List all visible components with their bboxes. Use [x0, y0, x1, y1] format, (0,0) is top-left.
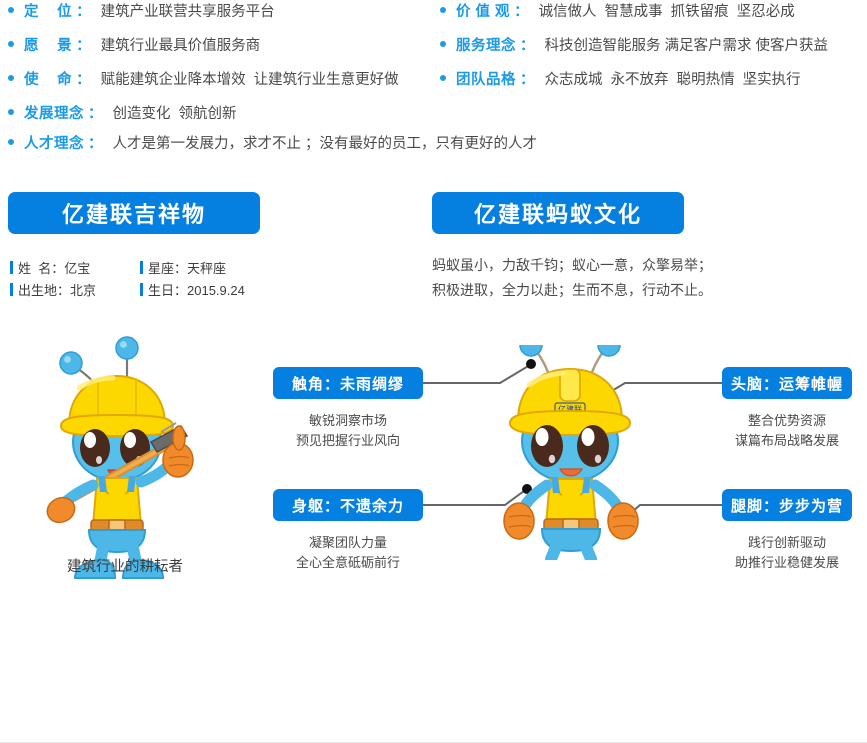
philosophy-value: 诚信做人 智慧成事 抓铁留痕 坚忍必成 [539, 0, 795, 21]
mascot-meta-row: 姓 名：亿宝 星座：天秤座 [10, 256, 310, 278]
section-banner-mascot: 亿建联吉祥物 [8, 192, 260, 234]
philosophy-value: 人才是第一发展力，求才不止 ；没有最好的员工，只有更好的人才 [113, 132, 538, 153]
bullet-icon [440, 41, 446, 47]
mascot-meta-cell: 姓 名：亿宝 [10, 258, 140, 277]
philosophy-label: 定 位 [24, 0, 72, 21]
mascot-meta-cell: 星座：天秤座 [140, 258, 270, 277]
philosophy-row-talent: 人才理念 ： 人才是第一发展力，求才不止 ；没有最好的员工，只有更好的人才 [8, 132, 867, 172]
philosophy-label: 团队品格 [456, 68, 516, 89]
callout-sub-line: 助推行业稳健发展 [712, 553, 862, 573]
callout-sub-line: 整合优势资源 [712, 411, 862, 431]
callout-pill-brain[interactable]: 头脑：运筹帷幄 [722, 367, 852, 399]
philosophy-row: 团队品格 ： 众志成城 永不放弃 聪明热情 坚实执行 [440, 68, 867, 102]
philosophy-value: 建筑行业最具价值服务商 [101, 34, 261, 55]
philosophy-label: 价 值 观 [456, 0, 510, 21]
philosophy-value: 创造变化 领航创新 [113, 102, 237, 123]
callout-pill-antenna-label: 触角：未雨绸缪 [292, 373, 404, 394]
philosophy-label: 愿 景 [24, 34, 72, 55]
philosophy-label: 发展理念 [24, 102, 84, 123]
philosophy-label: 人才理念 [24, 132, 84, 153]
bar-marker-icon [140, 283, 143, 296]
mascot-name: 姓 名：亿宝 [18, 258, 90, 277]
philosophy-section: 定 位 ： 建筑产业联营共享服务平台 愿 景 ： 建筑行业最具价值服务商 使 命… [0, 0, 867, 172]
callout-pill-body-label: 身躯：不遗余力 [292, 495, 404, 516]
mascot-zodiac: 星座：天秤座 [148, 258, 226, 277]
bullet-icon [8, 139, 14, 145]
philosophy-column-right: 价 值 观 ： 诚信做人 智慧成事 抓铁留痕 坚忍必成 服务理念 ： 科技创造智… [440, 0, 867, 102]
philosophy-column-left: 定 位 ： 建筑产业联营共享服务平台 愿 景 ： 建筑行业最具价值服务商 使 命… [8, 0, 448, 136]
philosophy-colon: ： [514, 0, 529, 21]
ant-svg: 亿建联 [455, 345, 685, 560]
philosophy-row: 使 命 ： 赋能建筑企业降本增效 让建筑行业生意更好做 [8, 68, 448, 102]
bar-marker-icon [10, 283, 13, 296]
philosophy-row: 发展理念 ： 创造变化 领航创新 [8, 102, 448, 136]
philosophy-colon: ： [88, 132, 103, 153]
bullet-icon [8, 75, 14, 81]
philosophy-colon: ： [76, 0, 91, 21]
mascot-birthday: 生日：2015.9.24 [148, 280, 245, 299]
bar-marker-icon [10, 261, 13, 274]
callout-pill-legs[interactable]: 腿脚：步步为营 [722, 489, 852, 521]
callout-sub-brain: 整合优势资源 谋篇布局战略发展 [712, 411, 862, 451]
callout-sub-line: 谋篇布局战略发展 [712, 431, 862, 451]
mascot-birthplace: 出生地：北京 [18, 280, 96, 299]
mascot-meta-cell: 生日：2015.9.24 [140, 280, 270, 299]
callout-pill-legs-label: 腿脚：步步为营 [731, 495, 843, 516]
philosophy-colon: ： [520, 68, 535, 89]
callout-pill-antenna[interactable]: 触角：未雨绸缪 [273, 367, 423, 399]
culture-line: 积极进取，全力以赴；生而不息，行动不止。 [432, 278, 792, 303]
philosophy-label: 服务理念 [456, 34, 516, 55]
callout-sub-line: 践行创新驱动 [712, 533, 862, 553]
mascot-meta-table: 姓 名：亿宝 星座：天秤座 出生地：北京 生日：2015.9.24 [10, 256, 310, 300]
bullet-icon [8, 41, 14, 47]
page-root: 定 位 ： 建筑产业联营共享服务平台 愿 景 ： 建筑行业最具价值服务商 使 命… [0, 0, 867, 743]
ant-illustration: 亿建联 [455, 345, 685, 560]
callout-sub-line: 凝聚团队力量 [263, 533, 433, 553]
callout-sub-line: 全心全意砥砺前行 [263, 553, 433, 573]
philosophy-value: 建筑产业联营共享服务平台 [101, 0, 275, 21]
callout-pill-body[interactable]: 身躯：不遗余力 [273, 489, 423, 521]
callout-sub-antenna: 敏锐洞察市场 预见把握行业风向 [263, 411, 433, 451]
section-banner-culture-label: 亿建联蚂蚁文化 [474, 197, 642, 229]
philosophy-row: 服务理念 ： 科技创造智能服务 满足客户需求 使客户获益 [440, 34, 867, 68]
callout-pill-brain-label: 头脑：运筹帷幄 [731, 373, 843, 394]
section-banner-culture: 亿建联蚂蚁文化 [432, 192, 684, 234]
callout-sub-line: 敏锐洞察市场 [263, 411, 433, 431]
bullet-icon [8, 7, 14, 13]
callout-sub-legs: 践行创新驱动 助推行业稳健发展 [712, 533, 862, 573]
section-banner-mascot-label: 亿建联吉祥物 [62, 197, 206, 229]
philosophy-row: 人才理念 ： 人才是第一发展力，求才不止 ；没有最好的员工，只有更好的人才 [8, 132, 867, 172]
callout-sub-line: 预见把握行业风向 [263, 431, 433, 451]
philosophy-colon: ： [76, 68, 91, 89]
philosophy-colon: ： [520, 34, 535, 55]
mascot-illustration [35, 330, 235, 580]
bullet-icon [440, 75, 446, 81]
philosophy-row: 定 位 ： 建筑产业联营共享服务平台 [8, 0, 448, 34]
callout-sub-body: 凝聚团队力量 全心全意砥砺前行 [263, 533, 433, 573]
bullet-icon [440, 7, 446, 13]
bar-marker-icon [140, 261, 143, 274]
culture-line: 蚂蚁虽小，力敌千钧；蚁心一意，众擎易举； [432, 253, 792, 278]
mascot-meta-cell: 出生地：北京 [10, 280, 140, 299]
culture-paragraph: 蚂蚁虽小，力敌千钧；蚁心一意，众擎易举； 积极进取，全力以赴；生而不息，行动不止… [432, 253, 792, 303]
mascot-meta-row: 出生地：北京 生日：2015.9.24 [10, 278, 310, 300]
philosophy-row: 愿 景 ： 建筑行业最具价值服务商 [8, 34, 448, 68]
philosophy-value: 众志成城 永不放弃 聪明热情 坚实执行 [545, 68, 801, 89]
philosophy-colon: ： [76, 34, 91, 55]
philosophy-value: 科技创造智能服务 满足客户需求 使客户获益 [545, 34, 829, 55]
philosophy-value: 赋能建筑企业降本增效 让建筑行业生意更好做 [101, 68, 399, 89]
mascot-svg [35, 330, 235, 580]
philosophy-label: 使 命 [24, 68, 72, 89]
mascot-caption: 建筑行业的耕耘者 [0, 555, 250, 576]
philosophy-row: 价 值 观 ： 诚信做人 智慧成事 抓铁留痕 坚忍必成 [440, 0, 867, 34]
philosophy-colon: ： [88, 102, 103, 123]
bullet-icon [8, 109, 14, 115]
